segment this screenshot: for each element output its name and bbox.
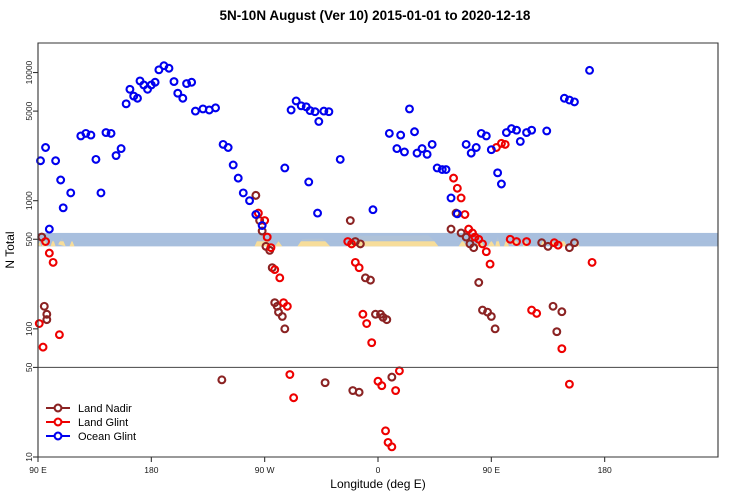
legend-marker — [55, 433, 62, 440]
scatter-chart: 5N-10N August (Ver 10) 2015-01-01 to 202… — [0, 0, 750, 500]
legend-marker — [55, 405, 62, 412]
x-tick-label: 90 W — [255, 465, 275, 475]
ocean-strip-overlay — [38, 233, 718, 241]
x-tick-label: 180 — [144, 465, 158, 475]
x-tick-label: 90 E — [29, 465, 47, 475]
legend-label: Land Nadir — [78, 403, 132, 415]
chart-legend: Land NadirLand GlintOcean Glint — [46, 403, 136, 443]
legend-label: Ocean Glint — [78, 431, 136, 443]
y-tick-label: 10 — [24, 452, 34, 462]
legend-label: Land Glint — [78, 417, 128, 429]
chart-title: 5N-10N August (Ver 10) 2015-01-01 to 202… — [220, 8, 531, 23]
latitude-band-map — [38, 233, 718, 246]
x-tick-label: 0 — [376, 465, 381, 475]
legend-marker — [55, 419, 62, 426]
y-tick-label: 10000 — [24, 60, 34, 84]
y-tick-label: 500 — [24, 232, 34, 246]
x-axis-title: Longitude (deg E) — [330, 477, 425, 491]
x-tick-label: 180 — [598, 465, 612, 475]
y-tick-label: 50 — [24, 362, 34, 372]
y-tick-label: 1000 — [24, 191, 34, 210]
x-tick-label: 90 E — [483, 465, 501, 475]
y-tick-label: 100 — [24, 321, 34, 335]
y-axis-title: N Total — [3, 231, 17, 268]
y-tick-label: 5000 — [24, 101, 34, 120]
